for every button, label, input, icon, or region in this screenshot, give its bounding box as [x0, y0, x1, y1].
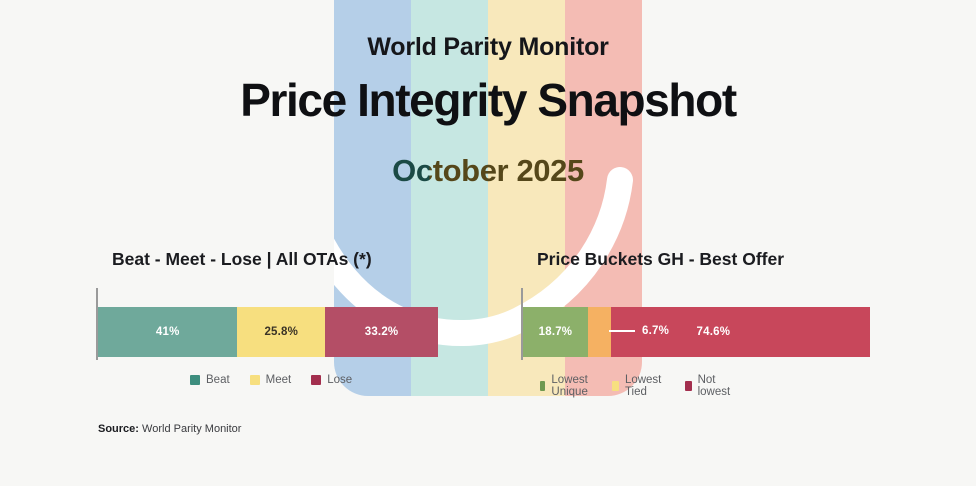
legend-item-beat[interactable]: Beat	[190, 374, 230, 386]
legend-beat-meet-lose: Beat Meet Lose	[190, 374, 352, 386]
legend-price-buckets: Lowest Unique Lowest Tied Not lowest	[540, 374, 733, 398]
legend-label-lowest-tied: Lowest Tied	[625, 374, 665, 398]
legend-item-lowest-unique[interactable]: Lowest Unique	[540, 374, 592, 398]
stacked-bar-beat-meet-lose: 41% 25.8% 33.2%	[98, 307, 438, 357]
source-label: Source:	[98, 423, 139, 435]
legend-label-not-lowest: Not lowest	[698, 374, 734, 398]
legend-swatch-not-lowest	[685, 381, 692, 391]
legend-item-lose[interactable]: Lose	[311, 374, 352, 386]
legend-label-lose: Lose	[327, 374, 352, 386]
source-value: World Parity Monitor	[142, 423, 241, 435]
legend-item-meet[interactable]: Meet	[250, 374, 292, 386]
chart-title-price-buckets: Price Buckets GH - Best Offer	[537, 249, 784, 270]
source-note: Source: World Parity Monitor	[98, 423, 241, 435]
chart-title-beat-meet-lose: Beat - Meet - Lose | All OTAs (*)	[112, 249, 372, 270]
bar-label-meet: 25.8%	[264, 326, 298, 338]
legend-swatch-lowest-tied	[612, 381, 619, 391]
bar-segment-beat[interactable]: 41%	[98, 307, 237, 357]
bar-label-lowest-unique: 18.7%	[539, 326, 573, 338]
legend-label-meet: Meet	[266, 374, 292, 386]
legend-item-not-lowest[interactable]: Not lowest	[685, 374, 734, 398]
legend-item-lowest-tied[interactable]: Lowest Tied	[612, 374, 664, 398]
stacked-bar-price-buckets: 18.7% 74.6%	[523, 307, 870, 357]
bar-segment-not-lowest[interactable]: 74.6%	[611, 307, 870, 357]
bar-segment-meet[interactable]: 25.8%	[237, 307, 325, 357]
kicker-title: World Parity Monitor	[0, 33, 976, 62]
bar-label-lose: 33.2%	[365, 326, 399, 338]
period-subtitle: October 2025	[0, 153, 976, 189]
infographic-canvas: World Parity Monitor Price Integrity Sna…	[0, 0, 976, 486]
legend-swatch-meet	[250, 375, 260, 385]
legend-swatch-lose	[311, 375, 321, 385]
page-title: Price Integrity Snapshot	[0, 73, 976, 127]
legend-label-beat: Beat	[206, 374, 230, 386]
legend-swatch-lowest-unique	[540, 381, 545, 391]
bar-label-beat: 41%	[156, 326, 180, 338]
legend-swatch-beat	[190, 375, 200, 385]
legend-label-lowest-unique: Lowest Unique	[551, 374, 592, 398]
bar-segment-lowest-tied[interactable]	[588, 307, 611, 357]
bar-label-not-lowest: 74.6%	[697, 326, 731, 338]
bar-segment-lowest-unique[interactable]: 18.7%	[523, 307, 588, 357]
bar-segment-lose[interactable]: 33.2%	[325, 307, 438, 357]
